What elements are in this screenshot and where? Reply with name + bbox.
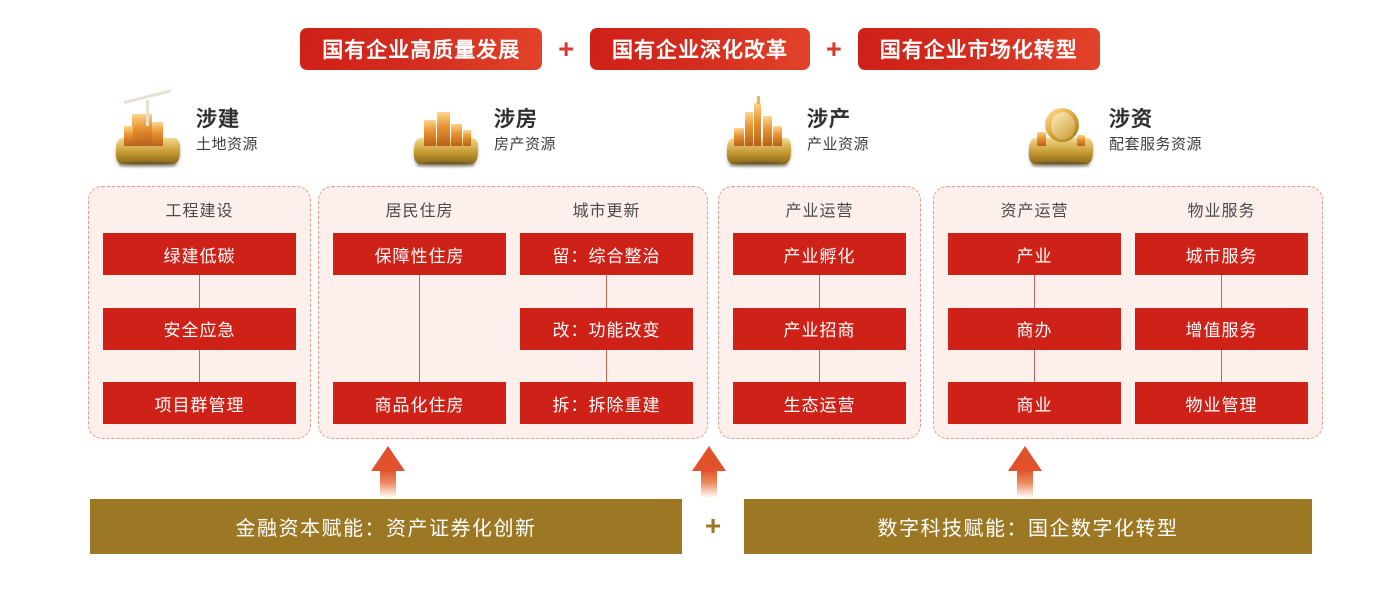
item-block[interactable]: 产业孵化 (733, 233, 906, 275)
panel-assets: 资产运营 产业 商办 商业 物业服务 城市服务 (933, 186, 1323, 439)
block-slot-empty (333, 308, 506, 350)
block-slot: 安全应急 (103, 308, 296, 350)
enabler-bar-financial[interactable]: 金融资本赋能：资产证券化创新 (90, 499, 682, 554)
column-title: 居民住房 (333, 197, 506, 227)
item-block[interactable]: 产业招商 (733, 308, 906, 350)
plus-separator-bottom: + (682, 512, 744, 540)
up-arrow-icon-assets (1008, 446, 1042, 498)
category-title: 涉资 (1109, 108, 1202, 132)
category-subtitle: 产业资源 (807, 135, 869, 155)
item-block[interactable]: 安全应急 (103, 308, 296, 350)
category-subtitle: 配套服务资源 (1109, 135, 1202, 155)
column-title: 工程建设 (103, 197, 296, 227)
column-asset-operation: 资产运营 产业 商办 商业 (948, 197, 1121, 424)
gold-coin-icon (1025, 96, 1099, 166)
block-slot: 改：功能改变 (520, 308, 693, 350)
block-slot: 增值服务 (1135, 308, 1308, 350)
block-slot: 项目群管理 (103, 382, 296, 424)
category-header-housing[interactable]: 涉房 房产资源 (410, 92, 556, 170)
category-header-construction[interactable]: 涉建 土地资源 (112, 92, 258, 170)
category-header-industry[interactable]: 涉产 产业资源 (723, 92, 869, 170)
panel-construction: 工程建设 绿建低碳 安全应急 项目群管理 (88, 186, 311, 439)
category-header-row: 涉建 土地资源 涉房 房产资源 涉产 产业资源 (0, 92, 1400, 176)
block-slot: 产业 (948, 233, 1121, 275)
block-slot: 拆：拆除重建 (520, 382, 693, 424)
item-block[interactable]: 改：功能改变 (520, 308, 693, 350)
column-title: 产业运营 (733, 197, 906, 227)
category-subtitle: 土地资源 (196, 135, 258, 155)
block-slot: 商品化住房 (333, 382, 506, 424)
column-resident-housing: 居民住房 保障性住房 商品化住房 (333, 197, 506, 424)
up-arrow-icon-industry (692, 446, 726, 498)
column-industry-operation: 产业运营 产业孵化 产业招商 生态运营 (733, 197, 906, 424)
block-slot: 生态运营 (733, 382, 906, 424)
column-urban-renewal: 城市更新 留：综合整治 改：功能改变 拆：拆除重建 (520, 197, 693, 424)
column-title: 物业服务 (1135, 197, 1308, 227)
column-engineering-construction: 工程建设 绿建低碳 安全应急 项目群管理 (103, 197, 296, 424)
column-title: 城市更新 (520, 197, 693, 227)
enabler-row: 金融资本赋能：资产证券化创新 + 数字科技赋能：国企数字化转型 (0, 497, 1400, 555)
category-title: 涉建 (196, 108, 258, 132)
plus-separator-top-2: + (810, 36, 858, 63)
block-slot: 商业 (948, 382, 1121, 424)
category-header-assets[interactable]: 涉资 配套服务资源 (1025, 92, 1202, 170)
block-slot: 商办 (948, 308, 1121, 350)
block-slot: 绿建低碳 (103, 233, 296, 275)
category-subtitle: 房产资源 (494, 135, 556, 155)
plus-separator-top-1: + (542, 36, 590, 63)
item-block[interactable]: 城市服务 (1135, 233, 1308, 275)
block-slot: 物业管理 (1135, 382, 1308, 424)
column-title: 资产运营 (948, 197, 1121, 227)
item-block[interactable]: 商业 (948, 382, 1121, 424)
item-block[interactable]: 增值服务 (1135, 308, 1308, 350)
panel-industry: 产业运营 产业孵化 产业招商 生态运营 (718, 186, 921, 439)
strategy-pill-2[interactable]: 国有企业深化改革 (590, 28, 810, 70)
strategy-pill-1[interactable]: 国有企业高质量发展 (300, 28, 542, 70)
construction-crane-icon (112, 96, 186, 166)
item-block[interactable]: 拆：拆除重建 (520, 382, 693, 424)
item-block[interactable]: 产业 (948, 233, 1121, 275)
column-property-service: 物业服务 城市服务 增值服务 物业管理 (1135, 197, 1308, 424)
item-block[interactable]: 绿建低碳 (103, 233, 296, 275)
item-block[interactable]: 物业管理 (1135, 382, 1308, 424)
block-slot: 产业招商 (733, 308, 906, 350)
category-title: 涉产 (807, 108, 869, 132)
block-slot: 产业孵化 (733, 233, 906, 275)
up-arrow-icon-housing (371, 446, 405, 498)
category-title: 涉房 (494, 108, 556, 132)
item-block[interactable]: 商品化住房 (333, 382, 506, 424)
block-slot: 城市服务 (1135, 233, 1308, 275)
item-block[interactable]: 商办 (948, 308, 1121, 350)
enabler-bar-digital[interactable]: 数字科技赋能：国企数字化转型 (744, 499, 1312, 554)
residential-buildings-icon (410, 96, 484, 166)
block-slot: 保障性住房 (333, 233, 506, 275)
item-block[interactable]: 保障性住房 (333, 233, 506, 275)
item-block[interactable]: 项目群管理 (103, 382, 296, 424)
item-block[interactable]: 留：综合整治 (520, 233, 693, 275)
top-strategy-row: 国有企业高质量发展 + 国有企业深化改革 + 国有企业市场化转型 (0, 24, 1400, 74)
city-skyline-icon (723, 96, 797, 166)
block-slot: 留：综合整治 (520, 233, 693, 275)
strategy-pill-3[interactable]: 国有企业市场化转型 (858, 28, 1100, 70)
item-block[interactable]: 生态运营 (733, 382, 906, 424)
panel-housing: 居民住房 保障性住房 商品化住房 城市更新 留：综合整治 (318, 186, 708, 439)
